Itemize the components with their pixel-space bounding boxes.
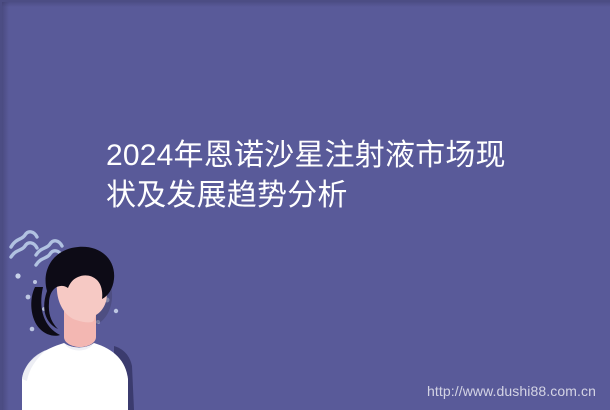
watermark-url: http://www.dushi88.com.cn [427,382,596,400]
title-line-2: 状及发展趋势分析 [106,176,554,216]
t-shirt [22,343,128,410]
person-looking-up-illustration [2,225,177,410]
page-title: 2024年恩诺沙星注射液市场现 状及发展趋势分析 [106,136,554,216]
title-line-1: 2024年恩诺沙星注射液市场现 [106,136,554,176]
article-banner: 2024年恩诺沙星注射液市场现 状及发展趋势分析 http://www.dush… [0,0,610,410]
